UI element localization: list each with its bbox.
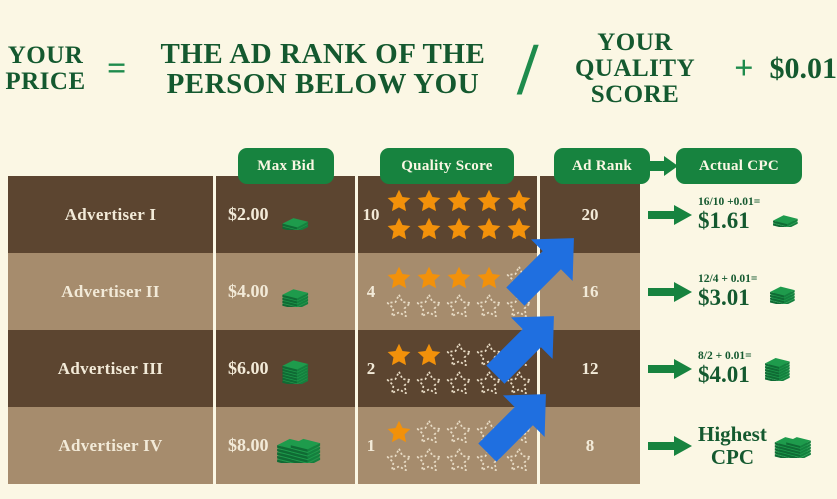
- star-filled-icon: [386, 342, 412, 368]
- cpc-text-block: HighestCPC: [698, 423, 767, 468]
- star-filled-icon: [386, 216, 412, 242]
- star-outline-icon: [416, 419, 442, 445]
- ad-rank-value: 8: [586, 436, 595, 456]
- star-filled-icon: [446, 188, 472, 214]
- column-header-ad-rank: Ad Rank: [554, 148, 650, 184]
- column-header-max-bid: Max Bid: [238, 148, 334, 184]
- actual-cpc-cell: 12/4 + 0.01=$3.01: [648, 253, 837, 330]
- green-arrow-icon: [648, 204, 692, 226]
- star-filled-icon: [386, 419, 412, 445]
- star-outline-icon: [386, 370, 412, 396]
- advertiser-name-label: Advertiser III: [58, 359, 163, 379]
- quality-score-value: 1: [362, 436, 380, 456]
- advertiser-name-label: Advertiser I: [65, 205, 157, 225]
- star-outline-icon: [446, 342, 472, 368]
- star-filled-icon: [506, 188, 532, 214]
- headline-penny-amount: $0.01: [770, 52, 837, 86]
- star-outline-icon: [446, 447, 472, 473]
- quality-score-value: 10: [362, 205, 380, 225]
- column-header-quality-score: Quality Score: [380, 148, 514, 184]
- cpc-text-block: 8/2 + 0.01=$4.01: [698, 350, 752, 386]
- star-outline-icon: [446, 370, 472, 396]
- star-filled-icon: [416, 188, 442, 214]
- star-filled-icon: [416, 216, 442, 242]
- cpc-text-block: 12/4 + 0.01=$3.01: [698, 273, 757, 309]
- star-outline-icon: [416, 370, 442, 396]
- actual-cpc-cell: HighestCPC: [648, 407, 837, 484]
- green-arrow-icon: [648, 281, 692, 303]
- headline-term-ad-rank-below: THE AD RANK OF THE PERSON BELOW YOU: [142, 39, 503, 99]
- column-header-actual-cpc: Actual CPC: [676, 148, 802, 184]
- cpc-value: $4.01: [698, 363, 752, 386]
- headline-formula: YOUR PRICE = THE AD RANK OF THE PERSON B…: [0, 14, 837, 124]
- advertiser-name-cell: Advertiser III: [8, 330, 213, 407]
- cpc-text-block: 16/10 +0.01=$1.61: [698, 196, 760, 232]
- max-bid-value: $8.00: [228, 435, 269, 456]
- max-bid-cell: $2.00: [216, 176, 355, 253]
- star-filled-icon: [386, 188, 412, 214]
- cpc-money-icon: [763, 274, 802, 309]
- cpc-value: $3.01: [698, 286, 757, 309]
- headline-divide-slash: /: [517, 42, 538, 100]
- max-bid-value: $2.00: [228, 204, 269, 225]
- money-stack-icon: [773, 428, 812, 458]
- actual-cpc-cell: 8/2 + 0.01=$4.01: [648, 330, 837, 407]
- star-filled-icon: [446, 216, 472, 242]
- max-bid-cell: $6.00: [216, 330, 355, 407]
- headline-plus-sign: +: [732, 52, 755, 86]
- star-outline-icon: [416, 293, 442, 319]
- quality-score-value: 2: [362, 359, 380, 379]
- blue-arrow-icon: [470, 378, 562, 470]
- money-stack-icon: [275, 353, 315, 384]
- header-arrow-icon: [648, 156, 678, 176]
- green-arrow-icon: [648, 358, 692, 380]
- money-stack-icon: [763, 274, 802, 304]
- infographic-canvas: YOUR PRICE = THE AD RANK OF THE PERSON B…: [0, 0, 837, 499]
- money-stack-icon: [758, 351, 797, 381]
- quality-score-value: 4: [362, 282, 380, 302]
- star-outline-icon: [446, 293, 472, 319]
- max-bid-cell: $8.00: [216, 407, 355, 484]
- cpc-money-icon: [758, 351, 797, 386]
- ad-rank-value: 12: [582, 359, 599, 379]
- star-filled-icon: [446, 265, 472, 291]
- headline-equals-sign: =: [105, 52, 128, 86]
- headline-term-your-price: YOUR PRICE: [0, 43, 91, 95]
- cpc-money-icon: [766, 197, 805, 232]
- advertiser-name-label: Advertiser IV: [58, 436, 162, 456]
- star-filled-icon: [476, 188, 502, 214]
- money-stack-icon: [275, 428, 321, 464]
- max-bid-value: $6.00: [228, 358, 269, 379]
- star-filled-icon: [416, 342, 442, 368]
- max-bid-value: $4.00: [228, 281, 269, 302]
- max-bid-cell: $4.00: [216, 253, 355, 330]
- advertiser-name-cell: Advertiser I: [8, 176, 213, 253]
- star-outline-icon: [416, 447, 442, 473]
- cpc-value: HighestCPC: [698, 423, 767, 468]
- star-outline-icon: [386, 447, 412, 473]
- star-filled-icon: [386, 265, 412, 291]
- star-filled-icon: [416, 265, 442, 291]
- money-stack-icon: [766, 197, 805, 227]
- advertiser-name-label: Advertiser II: [61, 282, 160, 302]
- advertiser-name-cell: Advertiser IV: [8, 407, 213, 484]
- cpc-value: $1.61: [698, 209, 760, 232]
- advertiser-name-cell: Advertiser II: [8, 253, 213, 330]
- star-outline-icon: [386, 293, 412, 319]
- headline-term-quality-score: YOUR QUALITY SCORE: [552, 30, 718, 108]
- cpc-money-icon: [773, 428, 812, 463]
- star-outline-icon: [446, 419, 472, 445]
- money-stack-icon: [275, 276, 315, 307]
- money-stack-icon: [275, 199, 315, 230]
- green-arrow-icon: [648, 435, 692, 457]
- actual-cpc-cell: 16/10 +0.01=$1.61: [648, 176, 837, 253]
